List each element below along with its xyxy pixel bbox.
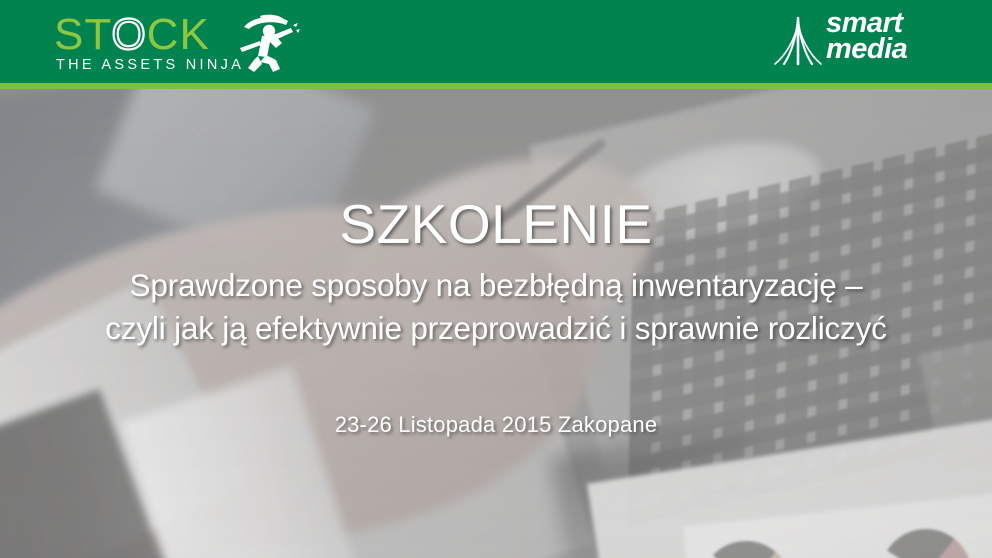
stock-logo[interactable]: STOCK THE ASSETS NINJA	[54, 12, 304, 74]
slide-subtitle: Sprawdzone sposoby na bezbłędną inwentar…	[0, 264, 992, 350]
subtitle-line-1: Sprawdzone sposoby na bezbłędną inwentar…	[0, 264, 992, 307]
ninja-icon	[236, 12, 302, 78]
smartmedia-logo[interactable]: smart media	[770, 8, 970, 74]
slide-text-block: SZKOLENIE Sprawdzone sposoby na bezbłędn…	[0, 89, 992, 558]
stock-wordmark: STOCK	[54, 12, 210, 58]
fountain-spire-icon	[770, 14, 826, 70]
stock-tagline: THE ASSETS NINJA	[56, 57, 244, 73]
smartmedia-wordmark: smart media	[826, 10, 907, 62]
event-date-location: 23-26 Listopada 2015 Zakopane	[0, 411, 992, 439]
header-accent-stripe	[0, 83, 992, 89]
stock-wordmark-o: O	[111, 10, 146, 59]
header-bar: STOCK THE ASSETS NINJA	[0, 0, 992, 83]
smartmedia-word-media: media	[826, 36, 907, 62]
page-title: SZKOLENIE	[0, 195, 992, 253]
stock-wordmark-ck: CK	[147, 10, 210, 59]
stock-wordmark-st: ST	[54, 10, 111, 59]
subtitle-line-2: czyli jak ją efektywnie przeprowadzić i …	[0, 307, 992, 350]
presentation-slide: SZKOLENIE Sprawdzone sposoby na bezbłędn…	[0, 0, 992, 558]
